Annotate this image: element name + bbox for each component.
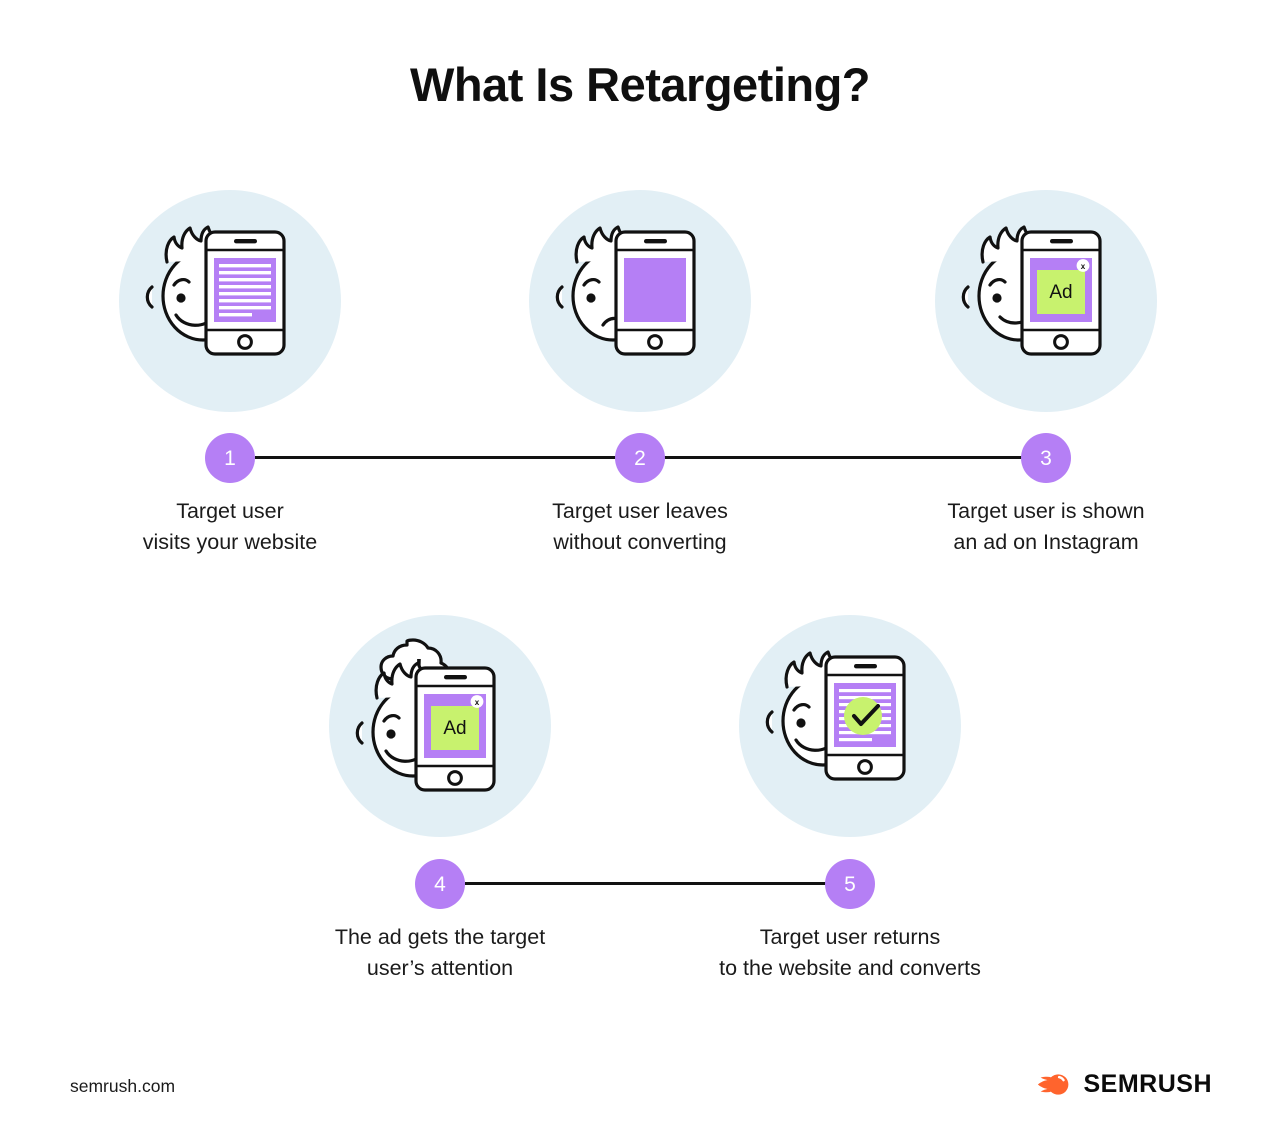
step-3-caption-line2: an ad on Instagram: [886, 527, 1206, 558]
infographic-canvas: What Is Retargeting?: [0, 0, 1280, 1123]
ad-label: Ad: [1049, 282, 1072, 303]
step-5-bubble: [739, 615, 961, 837]
step-5-caption: Target user returns to the website and c…: [690, 922, 1010, 984]
step-2-caption-line2: without converting: [480, 527, 800, 558]
face-happy-phone-converted-icon: [739, 615, 961, 837]
step-5-caption-line2: to the website and converts: [690, 953, 1010, 984]
step-number-1[interactable]: 1: [205, 433, 255, 483]
step-2-illustration: [510, 190, 770, 412]
connector-track-top: 1 2 3: [0, 433, 1280, 483]
blank-screen-icon: [624, 258, 686, 322]
semrush-comet-icon: [1036, 1071, 1073, 1098]
phone-speaker-icon: [854, 664, 877, 668]
step-1-bubble: [119, 190, 341, 412]
phone-speaker-icon: [644, 239, 667, 243]
face-sad-phone-blank-icon: [529, 190, 751, 412]
ad-label: Ad: [443, 718, 466, 739]
step-4-caption: The ad gets the target user’s attention: [280, 922, 600, 984]
step-number-5[interactable]: 5: [825, 859, 875, 909]
step-2-bubble: [529, 190, 751, 412]
step-4-caption-line2: user’s attention: [280, 953, 600, 984]
eye-left-icon: [386, 729, 395, 738]
svg-text:x: x: [1081, 262, 1086, 271]
step-2-caption-line1: Target user leaves: [480, 496, 800, 527]
step-5-illustration: [720, 615, 980, 837]
step-3-caption-line1: Target user is shown: [886, 496, 1206, 527]
face-happy-phone-article-icon: [119, 190, 341, 412]
phone-speaker-icon: [1050, 239, 1073, 243]
step-1-illustration: [100, 190, 360, 412]
connector-line-2: [465, 882, 855, 885]
ad-close-icon[interactable]: x: [471, 695, 484, 708]
semrush-logo: SEMRUSH: [1036, 1070, 1212, 1099]
step-3-caption: Target user is shown an ad on Instagram: [886, 496, 1206, 558]
step-1-caption: Target user visits your website: [70, 496, 390, 558]
step-4-bubble: !: [329, 615, 551, 837]
svg-text:x: x: [475, 698, 480, 707]
step-number-2[interactable]: 2: [615, 433, 665, 483]
face-thinking-phone-ad-icon: !: [329, 615, 551, 837]
step-1-caption-line2: visits your website: [70, 527, 390, 558]
step-4-caption-line1: The ad gets the target: [280, 922, 600, 953]
phone-speaker-icon: [444, 675, 467, 679]
eye-left-icon: [992, 293, 1001, 302]
eye-left-icon: [176, 293, 185, 302]
success-circle-icon: [844, 697, 882, 735]
step-1-caption-line1: Target user: [70, 496, 390, 527]
connector-track-bottom: 4 5: [0, 859, 1280, 909]
step-number-3[interactable]: 3: [1021, 433, 1071, 483]
page-title: What Is Retargeting?: [0, 57, 1280, 112]
eye-left-icon: [586, 293, 595, 302]
step-3-illustration: Ad x: [916, 190, 1176, 412]
semrush-wordmark: SEMRUSH: [1083, 1070, 1212, 1099]
ad-close-icon[interactable]: x: [1077, 259, 1090, 272]
eye-left-icon: [796, 718, 805, 727]
face-neutral-phone-ad-icon: Ad x: [935, 190, 1157, 412]
step-3-bubble: Ad x: [935, 190, 1157, 412]
step-number-4[interactable]: 4: [415, 859, 465, 909]
step-4-illustration: !: [310, 615, 570, 837]
step-5-caption-line1: Target user returns: [690, 922, 1010, 953]
step-2-caption: Target user leaves without converting: [480, 496, 800, 558]
phone-speaker-icon: [234, 239, 257, 243]
footer-url: semrush.com: [70, 1076, 175, 1097]
